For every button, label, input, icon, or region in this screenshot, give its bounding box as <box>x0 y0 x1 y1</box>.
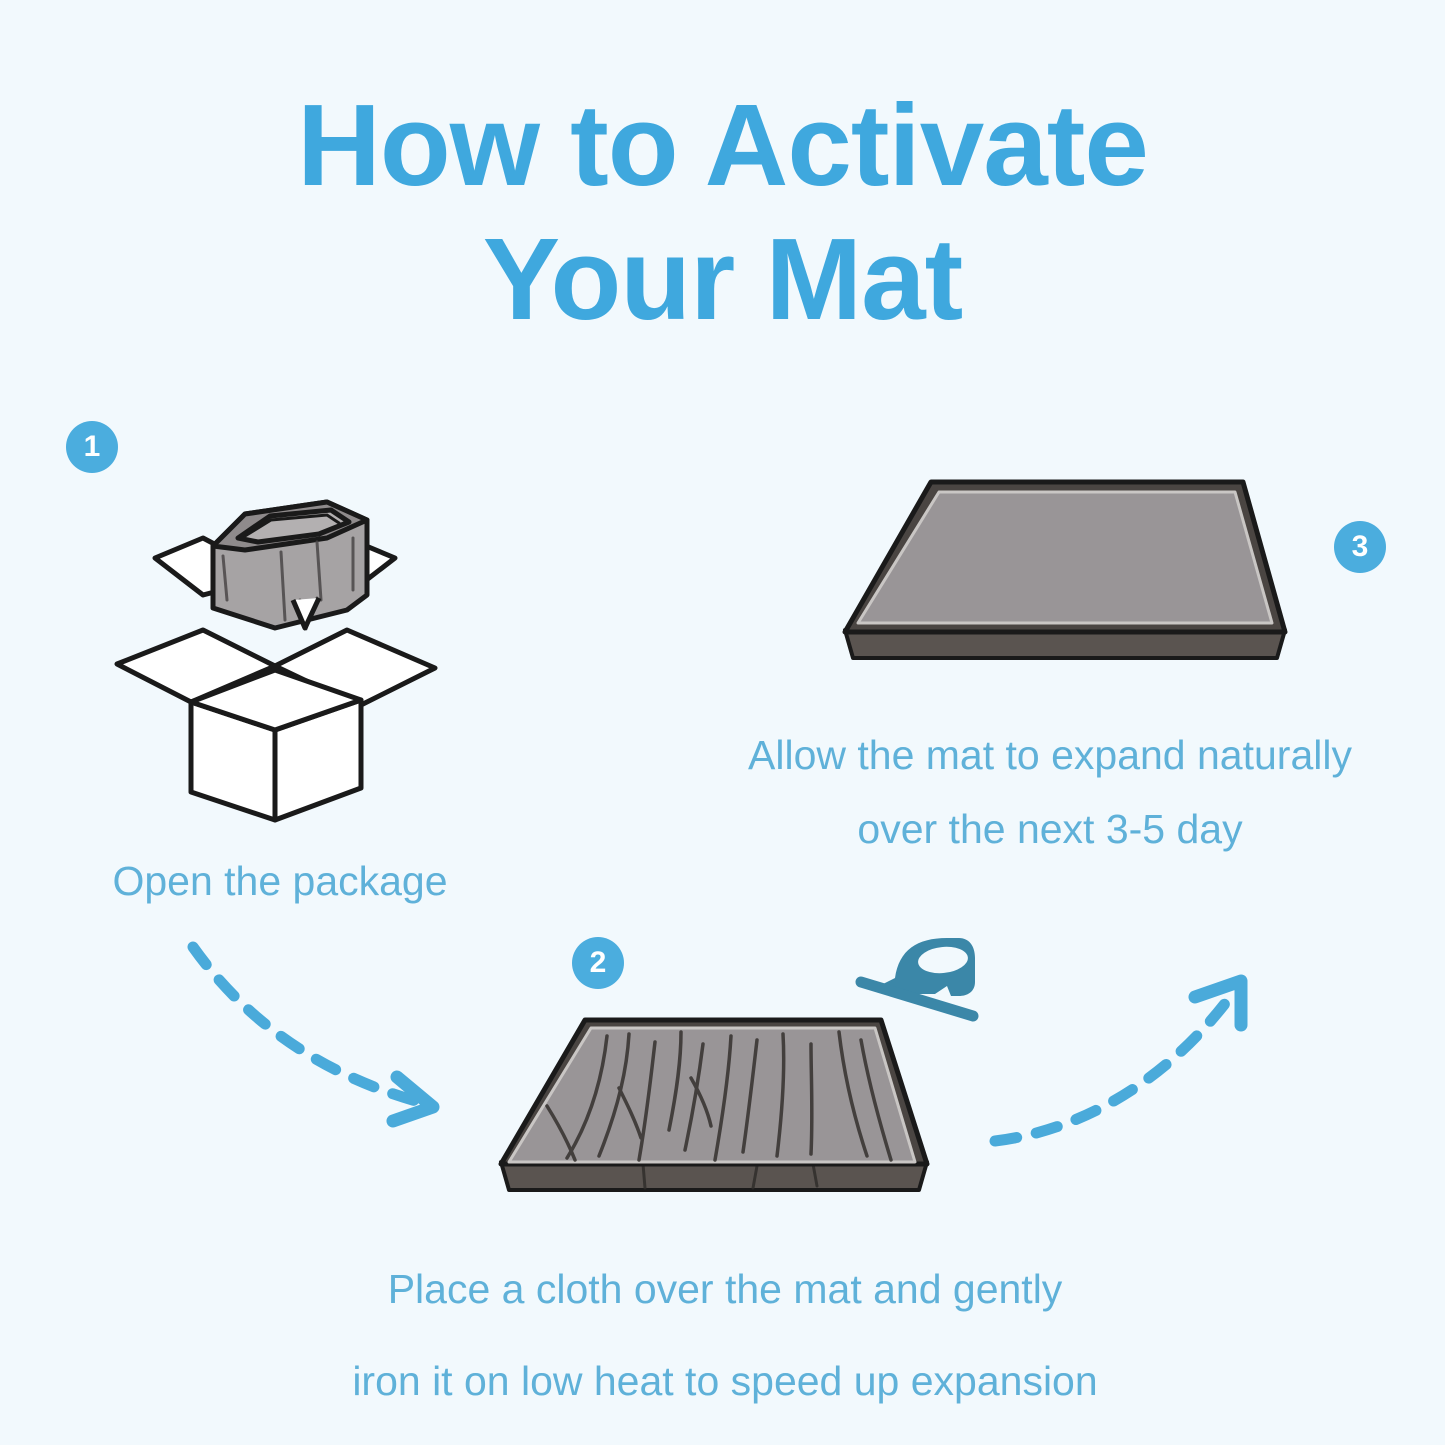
expanded-mat-illustration <box>835 470 1295 670</box>
page-title: How to Activate Your Mat <box>0 78 1445 346</box>
arrow-step2-to-step3 <box>985 965 1275 1155</box>
step-3-caption: Allow the mat to expand naturally over t… <box>655 718 1445 866</box>
step-badge-2: 2 <box>572 937 624 989</box>
step-badge-1: 1 <box>66 421 118 473</box>
box-body <box>191 670 361 820</box>
wrinkled-mat-illustration <box>495 1010 945 1210</box>
arrow-step1-to-step2 <box>175 925 475 1135</box>
step-2-caption: Place a cloth over the mat and gently ir… <box>230 1243 1220 1427</box>
step-badge-3: 3 <box>1334 521 1386 573</box>
packaged-mat-graphic <box>213 502 367 628</box>
title-line-2: Your Mat <box>0 212 1445 346</box>
step-1-caption: Open the package <box>40 850 520 912</box>
title-line-1: How to Activate <box>0 78 1445 212</box>
infographic-canvas: How to Activate Your Mat 1 <box>0 0 1445 1445</box>
open-box-illustration <box>95 480 455 820</box>
